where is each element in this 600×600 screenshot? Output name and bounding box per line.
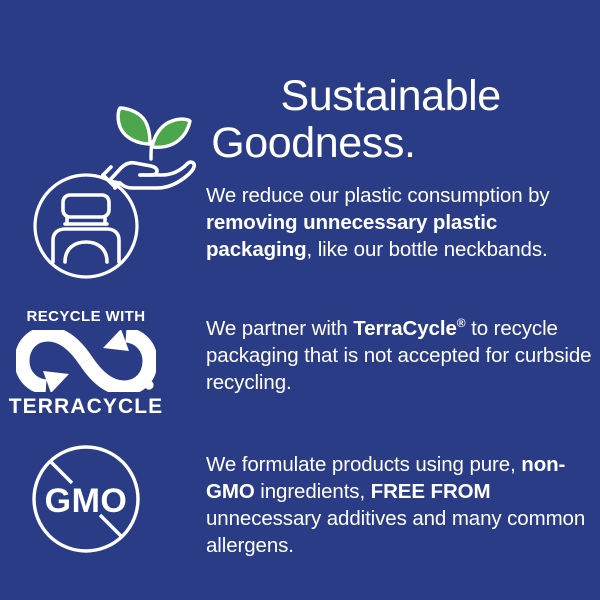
feature-icon-container: RECYCLE WITH: [0, 308, 160, 418]
infinity-loop-recycle-icon: [16, 330, 156, 392]
registered-trademark-mark: ®: [457, 316, 466, 330]
feature-row-non-gmo: GMO We formulate products using pure, no…: [0, 443, 600, 559]
feature-icon-container: GMO: [0, 443, 160, 555]
text-part-bold: TerraCycle: [353, 317, 456, 340]
sustainable-goodness-poster: SustainableGoodness.: [0, 0, 600, 600]
text-part: ingredients,: [255, 480, 371, 503]
feature-row-plastic-reduction: We reduce our plastic consumption by rem…: [0, 172, 600, 280]
feature-row-terracycle: RECYCLE WITH: [0, 308, 600, 418]
svg-text:GMO: GMO: [45, 482, 128, 520]
terracycle-logo: RECYCLE WITH: [16, 308, 156, 418]
text-part: unnecessary additives and many common al…: [206, 507, 585, 557]
text-part-bold: FREE FROM: [371, 480, 491, 503]
feature-text-non-gmo: We formulate products using pure, non-GM…: [160, 443, 600, 559]
page-title-line-2: Goodness.: [211, 120, 501, 167]
page-title-line-1: Sustainable: [280, 72, 500, 120]
text-part: We partner with: [206, 317, 353, 340]
text-part: , like our bottle neckbands.: [307, 238, 548, 261]
feature-text-plastic-reduction: We reduce our plastic consumption by rem…: [160, 172, 600, 263]
terracycle-wordmark: TERRACYCLE: [9, 395, 164, 418]
no-gmo-icon: GMO: [30, 443, 142, 555]
feature-text-terracycle: We partner with TerraCycle® to recycle p…: [160, 308, 600, 396]
text-part: We formulate products using pure,: [206, 453, 521, 476]
text-part: We reduce our plastic consumption by: [206, 184, 550, 207]
terracycle-top-label: RECYCLE WITH: [27, 308, 146, 325]
feature-icon-container: [0, 172, 160, 280]
bottle-in-circle-icon: [32, 172, 140, 280]
